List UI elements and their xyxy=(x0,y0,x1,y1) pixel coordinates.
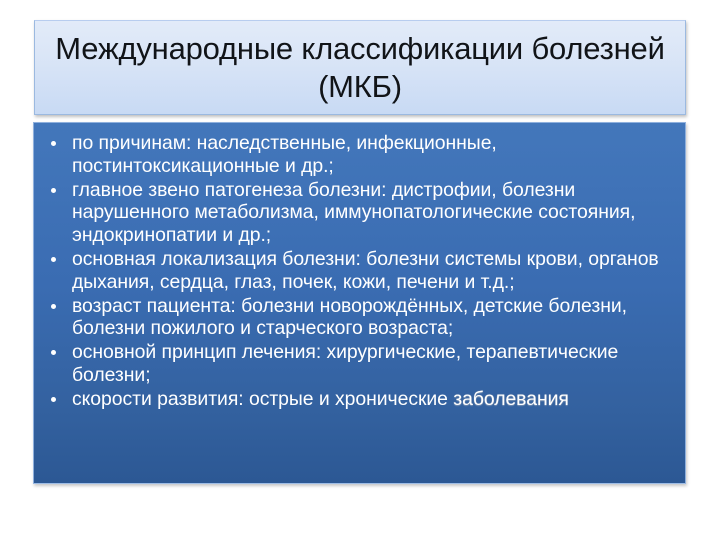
list-item: основная локализация болезни: болезни си… xyxy=(41,248,672,294)
page-title: Международные классификации болезней (МК… xyxy=(35,30,685,106)
list-item-label: по причинам: наследственные, инфекционны… xyxy=(72,132,497,177)
bullet-list: по причинам: наследственные, инфекционны… xyxy=(41,132,672,411)
list-item: по причинам: наследственные, инфекционны… xyxy=(41,132,672,178)
bullet-dot-icon xyxy=(51,257,56,262)
list-item-label: возраст пациента: болезни новорождённых,… xyxy=(72,295,627,340)
list-item-label: скорости развития: острые и хронические xyxy=(72,388,453,410)
bullet-dot-icon xyxy=(51,397,56,402)
list-item-label: главное звено патогенеза болезни: дистро… xyxy=(72,179,635,247)
list-item-overflow-label: заболевания xyxy=(453,388,569,410)
list-item: возраст пациента: болезни новорождённых,… xyxy=(41,295,672,341)
bullet-dot-icon xyxy=(51,141,56,146)
list-item-label: основная локализация болезни: болезни си… xyxy=(72,248,659,293)
list-item: скорости развития: острые и хронические … xyxy=(41,388,672,411)
title-placeholder[interactable]: Международные классификации болезней (МК… xyxy=(34,20,686,115)
body-placeholder-text[interactable]: по причинам: наследственные, инфекционны… xyxy=(33,122,686,412)
bullet-dot-icon xyxy=(51,188,56,193)
list-item-label: основной принцип лечения: хирургические,… xyxy=(72,341,618,386)
bullet-dot-icon xyxy=(51,350,56,355)
list-item: основной принцип лечения: хирургические,… xyxy=(41,341,672,387)
slide-canvas: Международные классификации болезней (МК… xyxy=(0,0,720,540)
list-item: главное звено патогенеза болезни: дистро… xyxy=(41,179,672,247)
bullet-dot-icon xyxy=(51,304,56,309)
